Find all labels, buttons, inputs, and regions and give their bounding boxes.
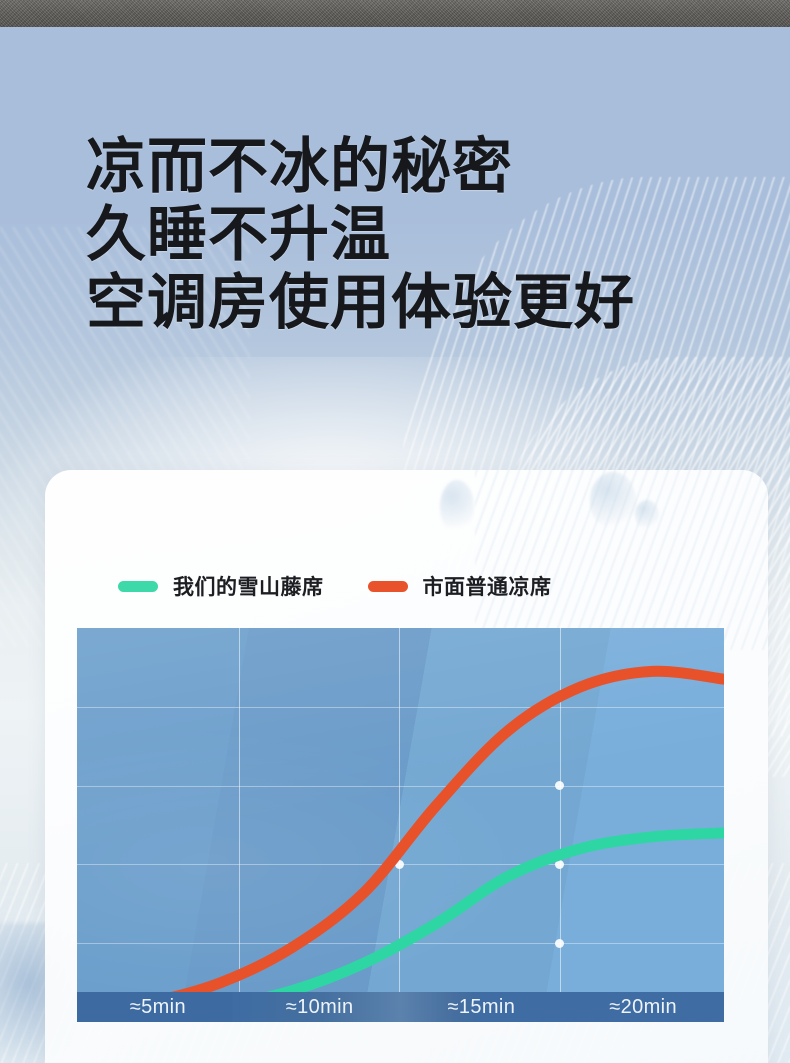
- headline-line-3: 空调房使用体验更好: [86, 270, 726, 338]
- curve-ours-green: [77, 833, 724, 1014]
- water-drop-icon: [590, 472, 636, 530]
- x-tick-4: ≈20min: [562, 996, 724, 1019]
- legend-swatch-green-icon: [118, 581, 158, 592]
- water-drop-icon: [440, 480, 474, 534]
- chart-x-axis: ≈5min ≈10min ≈15min ≈20min: [77, 992, 724, 1022]
- page-headline: 凉而不冰的秘密 久睡不升温 空调房使用体验更好: [86, 134, 726, 337]
- headline-line-1: 凉而不冰的秘密: [86, 134, 726, 202]
- headline-line-2: 久睡不升温: [86, 202, 726, 270]
- x-tick-1: ≈5min: [77, 996, 239, 1019]
- top-texture-strip: [0, 0, 790, 27]
- legend-label-ours: 我们的雪山藤席: [173, 571, 324, 601]
- legend-label-market: 市面普通凉席: [423, 571, 552, 601]
- chart-curves: [77, 628, 724, 1022]
- chart-plot-area: [77, 628, 724, 1022]
- x-tick-3: ≈15min: [401, 996, 563, 1019]
- chart-legend: 我们的雪山藤席 市面普通凉席: [118, 571, 552, 601]
- legend-swatch-orange-icon: [368, 581, 408, 592]
- chart-card: 我们的雪山藤席 市面普通凉席: [45, 470, 768, 1063]
- promo-page: 凉而不冰的秘密 久睡不升温 空调房使用体验更好 我们的雪山藤席 市面普通凉席: [0, 0, 790, 1063]
- x-tick-2: ≈10min: [239, 996, 401, 1019]
- water-drop-icon: [635, 500, 659, 530]
- legend-item-market[interactable]: 市面普通凉席: [368, 571, 552, 601]
- legend-item-ours[interactable]: 我们的雪山藤席: [118, 571, 324, 601]
